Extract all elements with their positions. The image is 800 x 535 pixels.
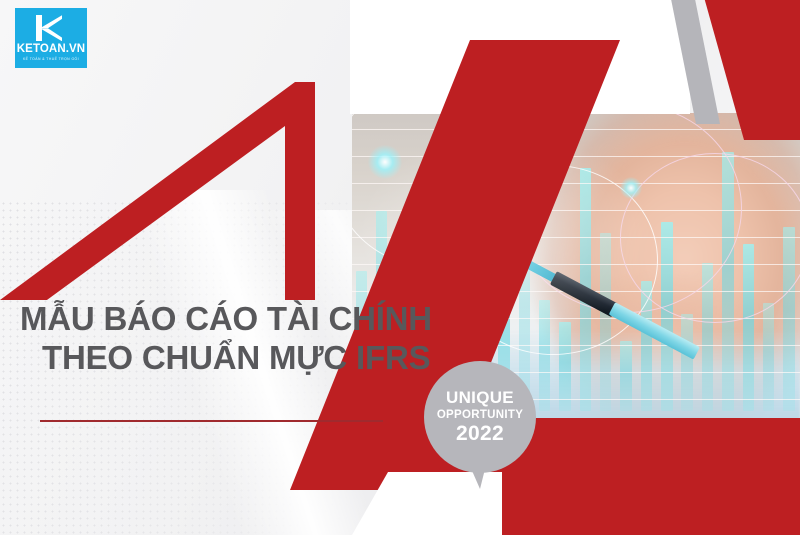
poster-canvas: KETOAN.VN KẾ TOÁN & THUẾ TRỌN GÓI MẪU BÁ… [0, 0, 800, 535]
logo-tagline: KẾ TOÁN & THUẾ TRỌN GÓI [23, 58, 79, 61]
badge-year: 2022 [456, 423, 504, 445]
badge-line-1: UNIQUE [446, 389, 514, 407]
ketoan-logo[interactable]: KETOAN.VN KẾ TOÁN & THUẾ TRỌN GÓI [15, 8, 87, 68]
letter-k-mark-icon [34, 14, 68, 42]
poster-title: MẪU BÁO CÁO TÀI CHÍNH THEO CHUẨN MỰC IFR… [20, 300, 420, 378]
badge-line-2: OPPORTUNITY [437, 409, 523, 421]
title-line-1: MẪU BÁO CÁO TÀI CHÍNH [20, 300, 420, 339]
badge-circle: UNIQUE OPPORTUNITY 2022 [424, 361, 536, 473]
unique-opportunity-badge: UNIQUE OPPORTUNITY 2022 [424, 361, 536, 473]
title-underline [40, 420, 383, 422]
title-line-2: THEO CHUẨN MỰC IFRS [20, 339, 420, 378]
logo-wordmark: KETOAN.VN [17, 44, 85, 56]
